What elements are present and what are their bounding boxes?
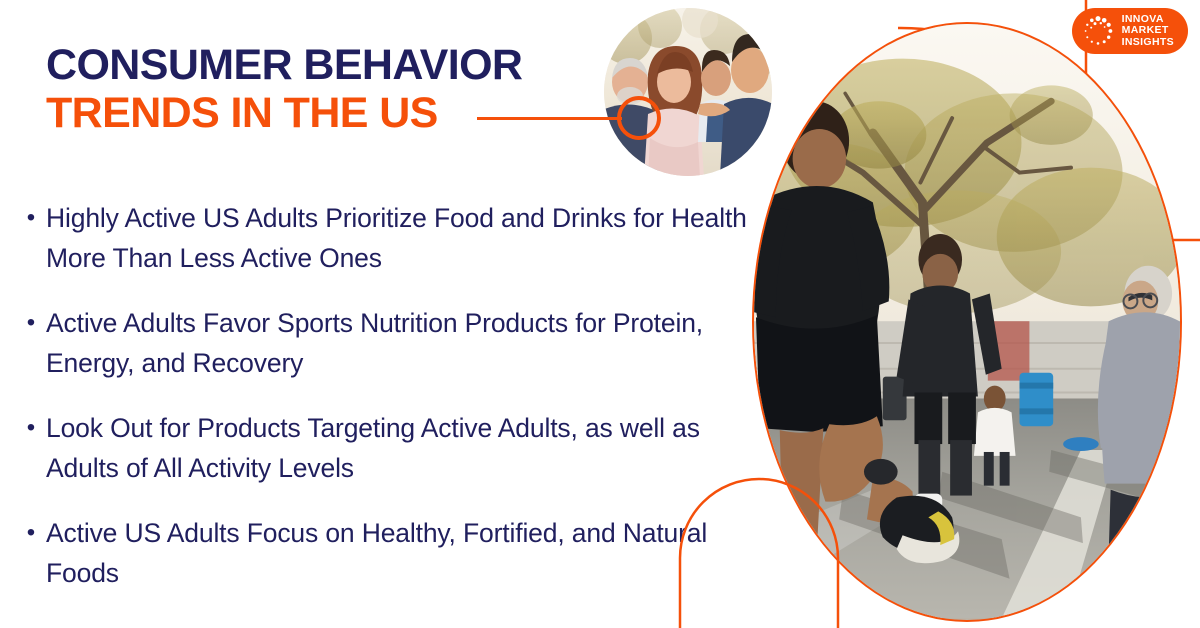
bullet-point-icon: • <box>20 513 42 553</box>
outdoor-fitness-artwork <box>754 24 1180 618</box>
slide-canvas: CONSUMER BEHAVIOR TRENDS IN THE US • Hig… <box>0 0 1200 628</box>
title-line-accent: TRENDS IN THE US <box>46 92 522 135</box>
bullet-point-icon: • <box>20 408 42 448</box>
key-takeaways-list: • Highly Active US Adults Prioritize Foo… <box>20 198 755 593</box>
list-item-label: Active US Adults Focus on Healthy, Forti… <box>46 513 755 593</box>
list-item-label: Active Adults Favor Sports Nutrition Pro… <box>46 303 755 383</box>
title-line-primary: CONSUMER BEHAVIOR <box>46 44 522 87</box>
bullet-point-icon: • <box>20 303 42 343</box>
list-item: • Highly Active US Adults Prioritize Foo… <box>20 198 755 278</box>
orange-connector-line <box>477 117 622 120</box>
family-portrait-photo <box>604 8 772 176</box>
page-title: CONSUMER BEHAVIOR TRENDS IN THE US <box>46 44 522 135</box>
list-item-label: Look Out for Products Targeting Active A… <box>46 408 755 488</box>
list-item: • Active US Adults Focus on Healthy, For… <box>20 513 755 593</box>
list-item-label: Highly Active US Adults Prioritize Food … <box>46 198 755 278</box>
orange-highlight-ring <box>617 96 661 140</box>
list-item: • Active Adults Favor Sports Nutrition P… <box>20 303 755 383</box>
list-item: • Look Out for Products Targeting Active… <box>20 408 755 488</box>
innova-market-insights-logo[interactable]: INNOVA MARKET INSIGHTS <box>1072 8 1188 54</box>
logo-line-3: INSIGHTS <box>1122 37 1174 49</box>
dot-ring-icon <box>1082 15 1114 47</box>
outdoor-fitness-group-photo <box>752 22 1182 622</box>
bullet-point-icon: • <box>20 198 42 238</box>
logo-wordmark: INNOVA MARKET INSIGHTS <box>1122 14 1174 49</box>
family-portrait-artwork <box>604 8 772 176</box>
